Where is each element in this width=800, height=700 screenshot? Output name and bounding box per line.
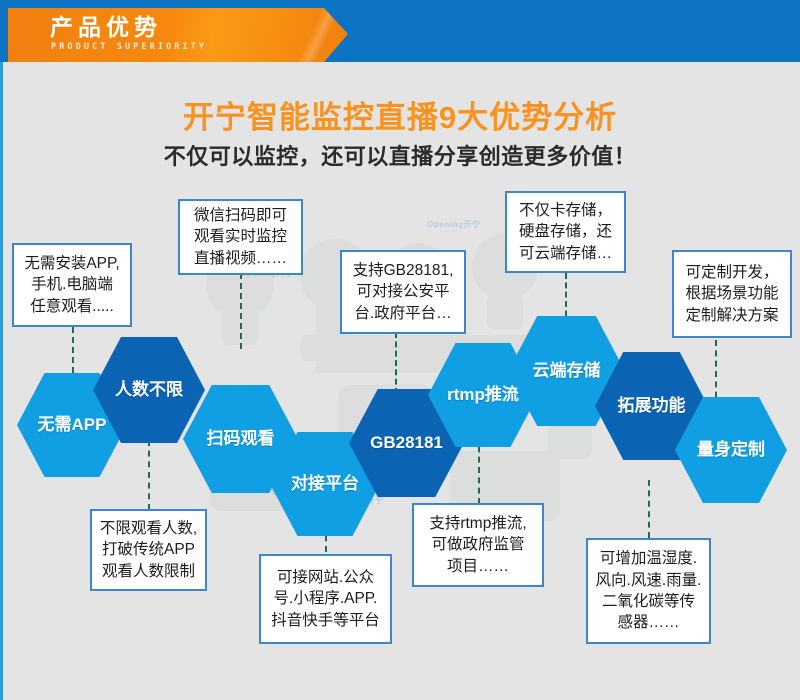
hex-label: 拓展功能 xyxy=(614,397,690,416)
hex-label: 人数不限 xyxy=(111,381,187,400)
connector-scan-watch xyxy=(240,273,242,349)
callout-no-app: 无需安装APP, 手机.电脑端 任意观看..... xyxy=(12,243,132,327)
callout-line: 打破传统APP xyxy=(100,539,197,560)
callout-line: 抖音快手等平台 xyxy=(271,610,380,631)
connector-sensors xyxy=(648,480,650,538)
hex-label: 无需APP xyxy=(34,416,111,435)
callout-line: 支持rtmp推流, xyxy=(429,513,526,534)
callout-custom-made: 可定制开发， 根据场景功能 定制解决方案 xyxy=(672,250,792,338)
callout-line: 手机.电脑端 xyxy=(24,274,119,295)
callout-line: 无需安装APP, xyxy=(24,253,119,274)
callout-line: 支持GB28181, xyxy=(353,260,454,281)
callout-sensors: 可增加温湿度. 风向.风速.雨量. 二氧化碳等传 感器…… xyxy=(586,538,711,644)
callout-line: 可做政府监管 xyxy=(429,534,526,555)
callout-channels: 可接网站.公众 号.小程序.APP. 抖音快手等平台 xyxy=(259,554,392,644)
callout-line: 风向.风速.雨量. xyxy=(596,570,702,591)
callout-line: 不限观看人数, xyxy=(100,518,197,539)
callout-scan-watch: 微信扫码即可 观看实时监控 直播视频…… xyxy=(178,199,303,275)
infographic-canvas: 产品优势 PRODUCT SUPERIORITY 开宁智能监控直播9大优势分析 … xyxy=(0,0,800,700)
header-badge-subtitle: PRODUCT SUPERIORITY xyxy=(51,42,207,52)
callout-platform-dock: 支持GB28181, 可对接公安平 台.政府平台… xyxy=(340,250,466,334)
callout-line: 观看人数限制 xyxy=(100,561,197,582)
callout-line: 可接网站.公众 xyxy=(271,567,380,588)
page-subtitle: 不仅可以监控，还可以直播分享创造更多价值！ xyxy=(0,139,800,171)
hex-label: 对接平台 xyxy=(287,475,363,494)
callout-line: 项目…… xyxy=(429,556,526,577)
hex-label: GB28181 xyxy=(366,434,447,453)
callout-line: 可增加温湿度. xyxy=(596,548,702,569)
callout-line: 任意观看..... xyxy=(24,296,119,317)
callout-line: 观看实时监控 xyxy=(194,226,287,247)
callout-line: 定制解决方案 xyxy=(685,305,778,326)
callout-line: 感器…… xyxy=(596,612,702,633)
hex-label: 扫码观看 xyxy=(203,430,279,449)
watermark-brand: Opening开宁 xyxy=(427,219,481,230)
callout-cloud-storage: 不仅卡存储， 硬盘存储，还 可云端存储… xyxy=(505,191,626,273)
callout-line: 可定制开发， xyxy=(685,262,778,283)
connector-platform-dock xyxy=(395,332,397,394)
header-badge: 产品优势 PRODUCT SUPERIORITY xyxy=(8,8,348,62)
callout-line: 不仅卡存储， xyxy=(519,200,612,221)
callout-rtmp-push: 支持rtmp推流, 可做政府监管 项目…… xyxy=(412,503,544,587)
callout-line: 二氧化碳等传 xyxy=(596,591,702,612)
callout-unlimited: 不限观看人数, 打破传统APP 观看人数限制 xyxy=(90,509,207,591)
header-bar: 产品优势 PRODUCT SUPERIORITY xyxy=(0,0,800,62)
callout-line: 号.小程序.APP. xyxy=(271,588,380,609)
callout-line: 可对接公安平 xyxy=(353,281,454,302)
page-title: 开宁智能监控直播9大优势分析 xyxy=(0,92,800,137)
hex-label: 量身定制 xyxy=(693,441,769,460)
callout-line: 根据场景功能 xyxy=(685,283,778,304)
hex-label: rtmp推流 xyxy=(443,386,523,405)
callout-line: 微信扫码即可 xyxy=(194,205,287,226)
callout-line: 可云端存储… xyxy=(519,243,612,264)
hex-label: 云端存储 xyxy=(529,362,605,381)
callout-line: 台.政府平台… xyxy=(353,303,454,324)
connector-unlimited xyxy=(148,440,150,510)
callout-line: 硬盘存储，还 xyxy=(519,221,612,242)
connector-no-app xyxy=(72,327,74,373)
callout-line: 直播视频…… xyxy=(194,248,287,269)
header-badge-title: 产品优势 xyxy=(50,12,162,42)
